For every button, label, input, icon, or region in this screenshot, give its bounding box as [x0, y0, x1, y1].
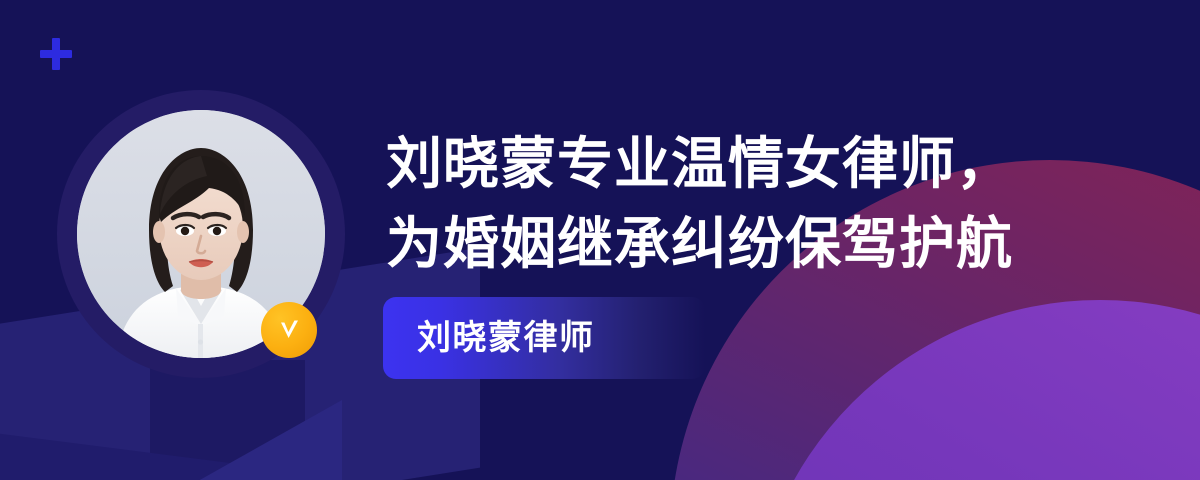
page-title: 刘晓蒙专业温情女律师， 为婚姻继承纠纷保驾护航	[386, 124, 1176, 284]
lawyer-promo-banner: 刘晓蒙专业温情女律师， 为婚姻继承纠纷保驾护航 刘晓蒙律师	[0, 0, 1200, 480]
plus-icon	[40, 38, 72, 70]
decorative-triangle-shape	[182, 400, 342, 480]
headline-block: 刘晓蒙专业温情女律师， 为婚姻继承纠纷保驾护航	[386, 124, 1176, 284]
lawyer-name-button[interactable]: 刘晓蒙律师	[383, 297, 705, 379]
decorative-stem-shape	[150, 360, 305, 480]
check-v-icon	[274, 315, 304, 345]
verified-badge	[261, 302, 317, 358]
avatar	[57, 90, 345, 378]
headline-line-1: 刘晓蒙专业温情女律师，	[386, 124, 1176, 204]
lawyer-name-button-label: 刘晓蒙律师	[417, 321, 595, 355]
decorative-wedge-shape	[0, 430, 230, 480]
headline-line-2: 为婚姻继承纠纷保驾护航	[386, 204, 1176, 284]
decorative-arc-inner	[750, 300, 1200, 480]
